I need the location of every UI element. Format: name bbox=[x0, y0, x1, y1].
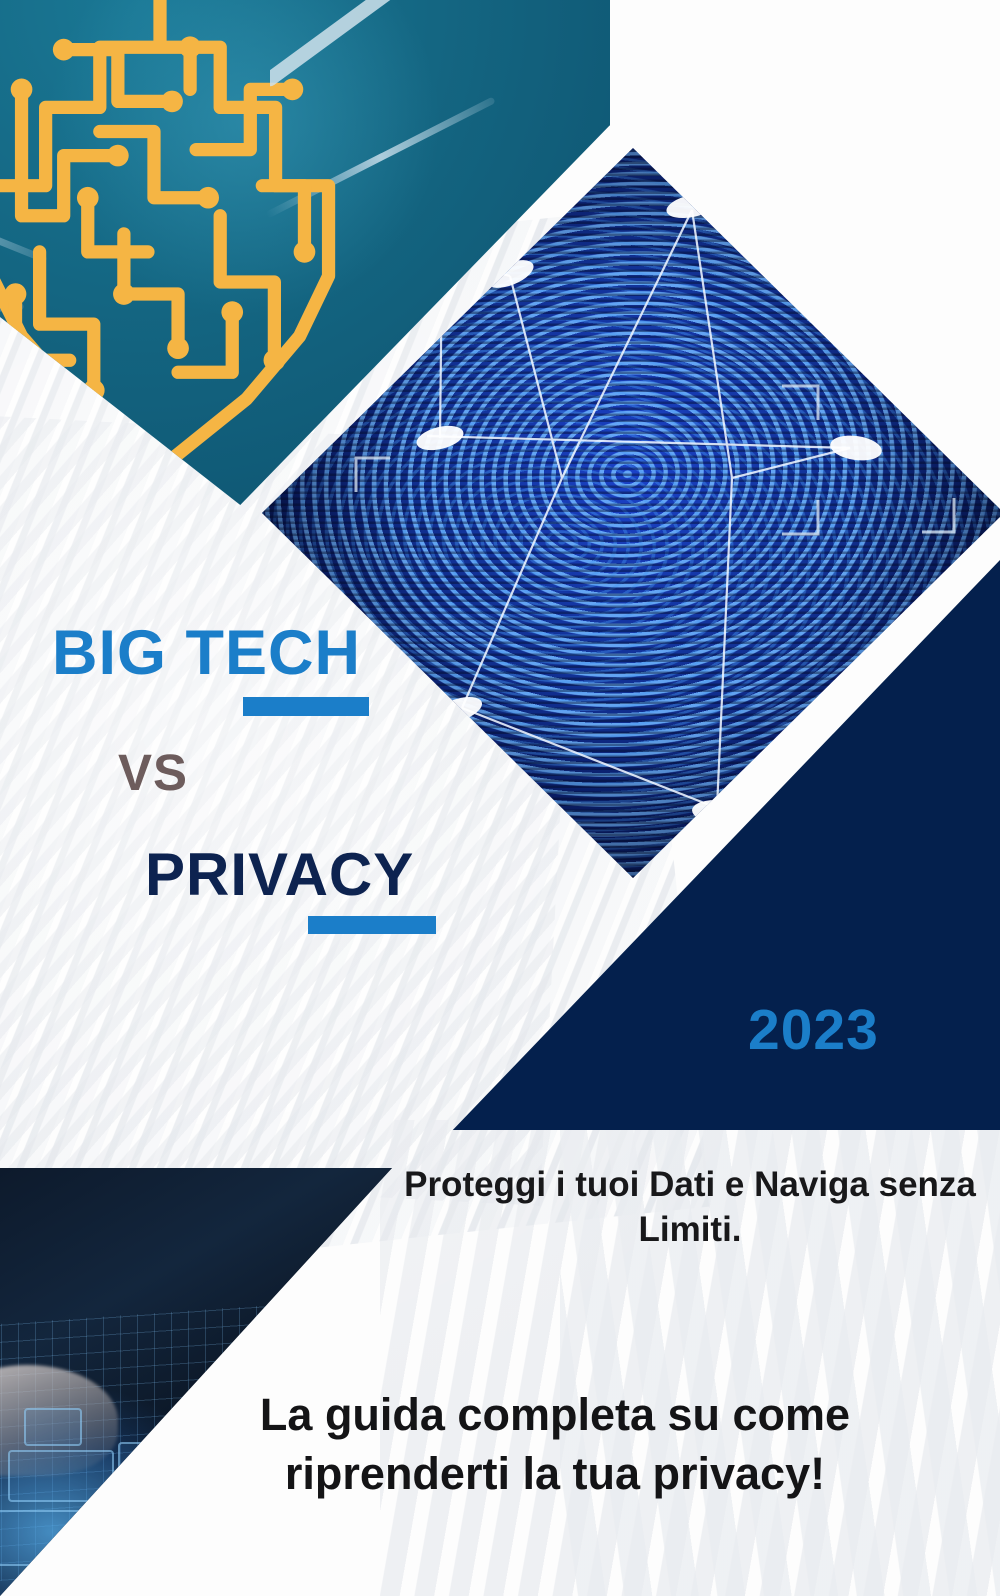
accent-underline-bar-1 bbox=[243, 697, 369, 716]
accent-underline-bar-2 bbox=[308, 916, 436, 934]
book-cover: BIG TECH VS PRIVACY 2023 Proteggi i tuoi… bbox=[0, 0, 1000, 1596]
title-line-big-tech: BIG TECH bbox=[52, 622, 361, 685]
photo-ui-panel-4 bbox=[24, 1408, 83, 1446]
title-line-privacy: PRIVACY bbox=[145, 845, 414, 905]
year-label: 2023 bbox=[748, 1002, 879, 1059]
circuit-node-icon bbox=[270, 0, 559, 96]
cover-subtitle: Proteggi i tuoi Dati e Naviga senza Limi… bbox=[395, 1163, 985, 1253]
cover-tagline: La guida completa su come riprenderti la… bbox=[185, 1386, 925, 1503]
title-line-vs: VS bbox=[118, 747, 188, 798]
